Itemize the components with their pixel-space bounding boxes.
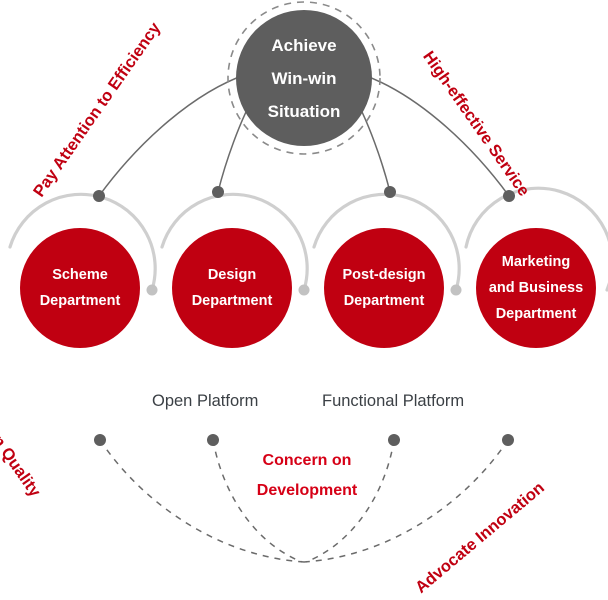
bottom-connector-dot-3: [388, 434, 400, 446]
diagram-canvas: Achieve Win-win Situation Scheme Departm…: [0, 0, 608, 600]
bottom-connector-dot-1: [94, 434, 106, 446]
concern-on-development-label: Concern on Development: [232, 446, 382, 506]
bottom-connector-dot-2: [207, 434, 219, 446]
bottom-connector-dot-4: [502, 434, 514, 446]
